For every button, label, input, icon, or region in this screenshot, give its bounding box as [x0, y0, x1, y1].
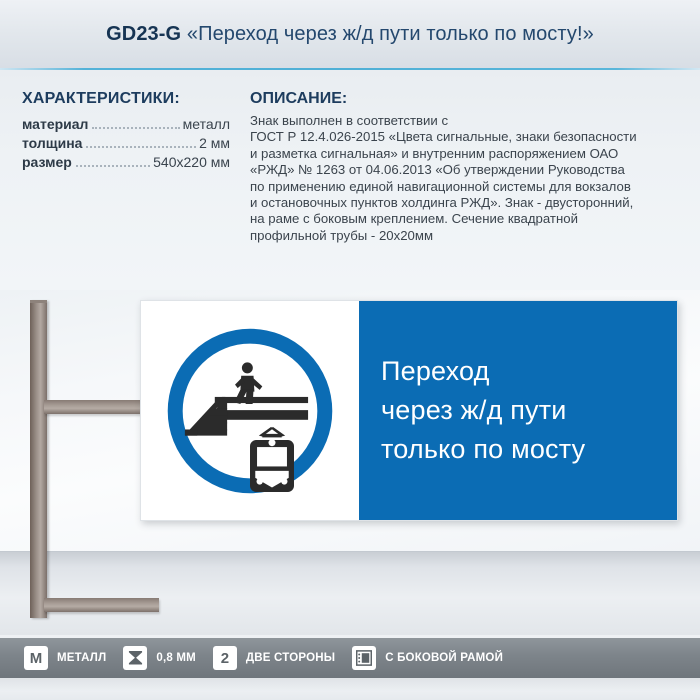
spec-value: 2 мм	[199, 135, 230, 151]
spec-leader-dots	[86, 146, 196, 148]
mast-cap	[30, 300, 47, 303]
page-header: GD23-G «Переход через ж/д пути только по…	[0, 0, 700, 68]
feature-side-frame: С БОКОВОЙ РАМОЙ	[352, 646, 503, 670]
feature-label: С БОКОВОЙ РАМОЙ	[385, 652, 503, 664]
page-footer-strip	[0, 678, 700, 700]
specifications-block: ХАРАКТЕРИСТИКИ: материал металл толщина …	[22, 90, 242, 173]
sign-text-panel: Переход через ж/д пути только по мосту	[359, 301, 677, 520]
spec-row: толщина 2 мм	[22, 135, 230, 151]
sign-pictogram-panel	[141, 301, 359, 520]
spec-row: материал металл	[22, 116, 230, 132]
metal-icon: M	[24, 646, 48, 670]
info-section: ХАРАКТЕРИСТИКИ: материал металл толщина …	[0, 70, 700, 290]
spec-key: материал	[22, 116, 88, 132]
feature-thickness: 0,8 ММ	[123, 646, 196, 670]
description-heading: ОПИСАНИЕ:	[250, 90, 685, 108]
description-body: Знак выполнен в соответствии с ГОСТ Р 12…	[250, 113, 685, 244]
feature-metal: M МЕТАЛЛ	[24, 646, 106, 670]
feature-two-sides: 2 ДВЕ СТОРОНЫ	[213, 646, 335, 670]
sign-plate: Переход через ж/д пути только по мосту	[140, 300, 678, 521]
thickness-icon	[123, 646, 147, 670]
product-scene: Переход через ж/д пути только по мосту	[0, 290, 700, 635]
mounting-arm-bottom	[44, 598, 159, 612]
sign-text-line: только по мосту	[381, 430, 677, 469]
side-frame-icon	[352, 646, 376, 670]
spec-value: 540х220 мм	[153, 154, 230, 170]
spec-row: размер 540х220 мм	[22, 154, 230, 170]
sign-text-line: Переход	[381, 352, 677, 391]
feature-label: МЕТАЛЛ	[57, 652, 106, 664]
product-name: «Переход через ж/д пути только по мосту!…	[187, 23, 594, 45]
page-title: GD23-G «Переход через ж/д пути только по…	[106, 23, 594, 46]
specifications-heading: ХАРАКТЕРИСТИКИ:	[22, 90, 242, 108]
side-frame-glyph	[356, 650, 372, 666]
spec-value: металл	[183, 116, 230, 132]
thickness-glyph	[128, 651, 143, 666]
two-sides-icon: 2	[213, 646, 237, 670]
mounting-mast	[30, 300, 47, 618]
feature-label: 0,8 ММ	[156, 652, 196, 664]
spec-leader-dots	[76, 165, 150, 167]
product-code: GD23-G	[106, 23, 181, 45]
pedestrian-bridge-over-railway-icon	[162, 323, 338, 499]
feature-label: ДВЕ СТОРОНЫ	[246, 652, 335, 664]
spec-leader-dots	[92, 127, 179, 129]
scene-floor	[0, 552, 700, 635]
spec-key: размер	[22, 154, 72, 170]
sign-text-line: через ж/д пути	[381, 391, 677, 430]
spec-key: толщина	[22, 135, 82, 151]
features-bar: M МЕТАЛЛ 0,8 ММ 2 ДВЕ СТОРОНЫ	[0, 638, 700, 678]
description-block: ОПИСАНИЕ: Знак выполнен в соответствии с…	[250, 90, 685, 244]
